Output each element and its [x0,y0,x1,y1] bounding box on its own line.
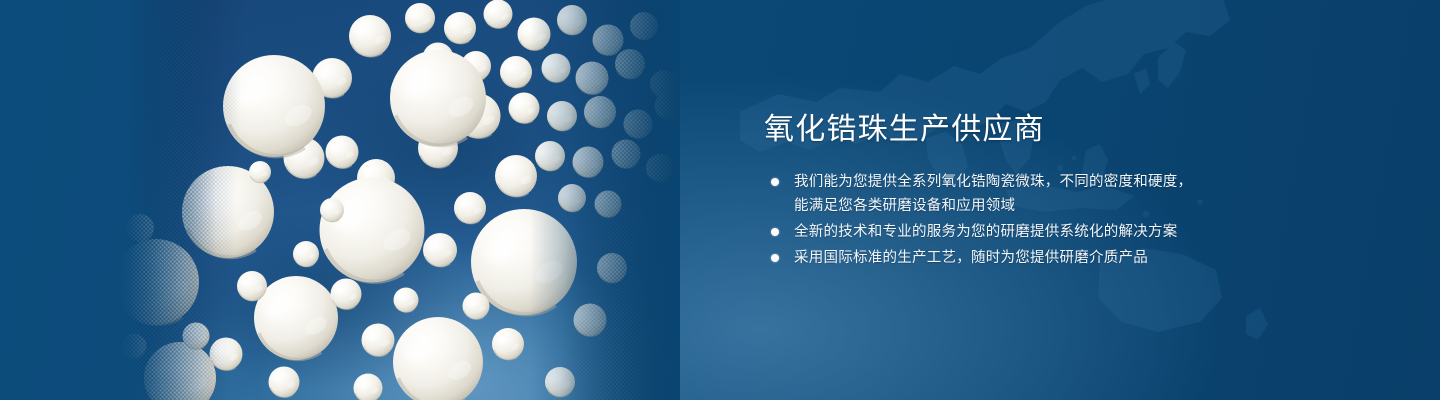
list-item: 全新的技术和专业的服务为您的研磨提供系统化的解决方案 [764,220,1226,244]
bullet-text: 我们能为您提供全系列氧化锆陶瓷微珠，不同的密度和硬度， 能满足您各类研磨设备和应… [794,170,1226,218]
filled-circle-icon [771,228,779,236]
list-item: 我们能为您提供全系列氧化锆陶瓷微珠，不同的密度和硬度， 能满足您各类研磨设备和应… [764,170,1226,218]
hero-banner: 氧化锆珠生产供应商 我们能为您提供全系列氧化锆陶瓷微珠，不同的密度和硬度， 能满… [0,0,1440,400]
filled-circle-icon [771,178,779,186]
bullet-text: 全新的技术和专业的服务为您的研磨提供系统化的解决方案 [794,220,1226,244]
zirconia-beads-photo [120,0,680,400]
banner-copy: 氧化锆珠生产供应商 我们能为您提供全系列氧化锆陶瓷微珠，不同的密度和硬度， 能满… [764,0,1234,400]
ceramic-beads-illustration [120,0,680,400]
list-item: 采用国际标准的生产工艺，随时为您提供研磨介质产品 [764,246,1226,270]
banner-title: 氧化锆珠生产供应商 [764,112,1045,148]
banner-bullet-list: 我们能为您提供全系列氧化锆陶瓷微珠，不同的密度和硬度， 能满足您各类研磨设备和应… [764,170,1226,272]
bullet-text: 采用国际标准的生产工艺，随时为您提供研磨介质产品 [794,246,1226,270]
filled-circle-icon [771,254,779,262]
